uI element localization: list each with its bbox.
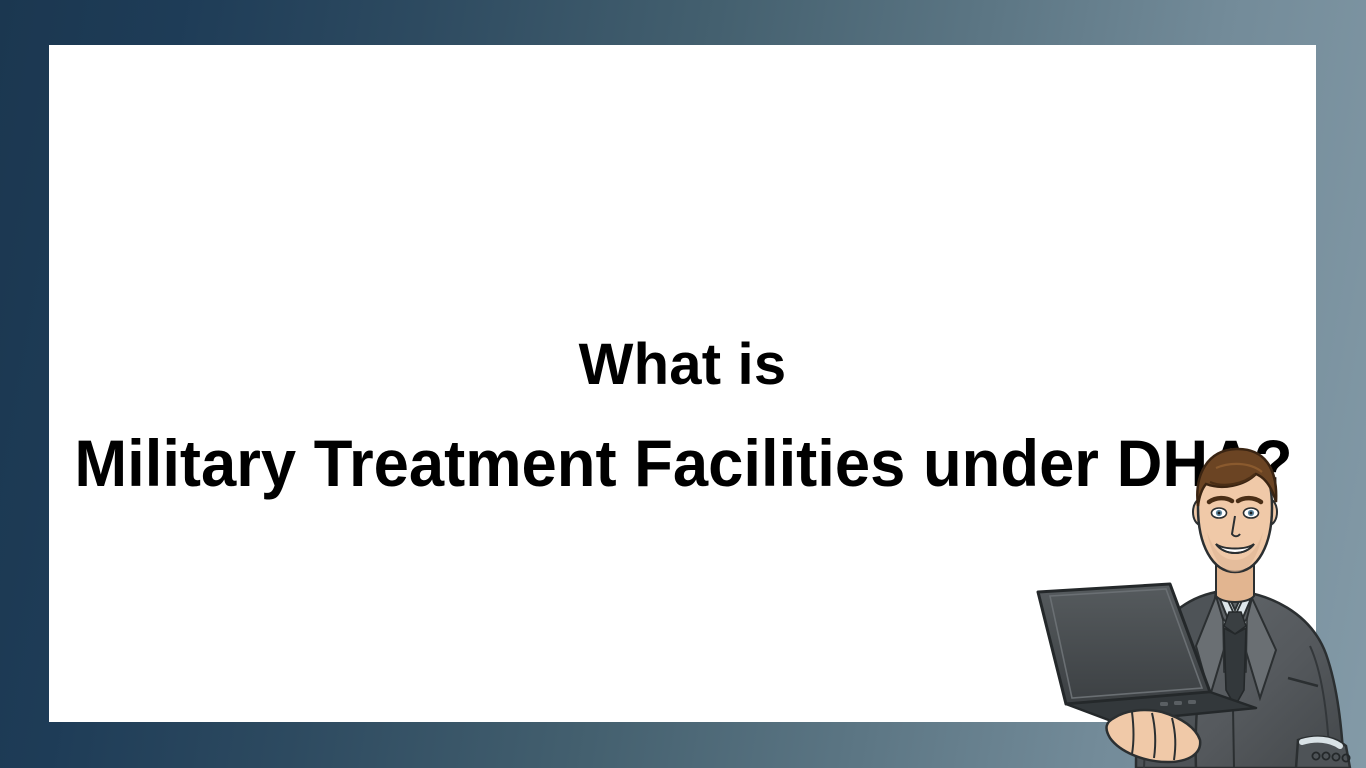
slide-title-line-2: Military Treatment Facilities under DHA? [74,423,1290,503]
presentation-slide: What is Military Treatment Facilities un… [0,0,1366,768]
title-block: What is Military Treatment Facilities un… [49,45,1316,722]
slide-title-line-1: What is [49,330,1316,400]
content-card: What is Military Treatment Facilities un… [49,45,1316,722]
